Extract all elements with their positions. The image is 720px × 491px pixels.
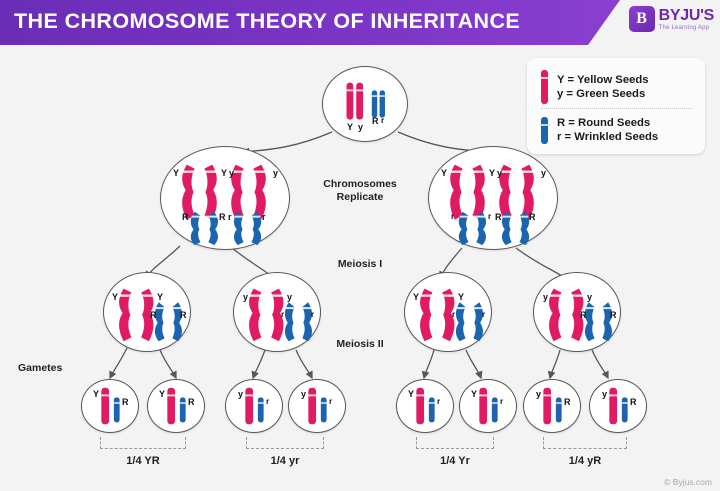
- repl-left-blue-1a: R: [182, 213, 189, 222]
- gamete-8-blue-label: R: [630, 398, 637, 407]
- m1c3-blue-b: r: [482, 311, 485, 319]
- meiosis1-cell-4: y y R R: [533, 272, 621, 352]
- parent-label-Y: Y: [347, 123, 353, 132]
- repl-right-blue-1a: r: [451, 213, 454, 221]
- m1c1-pink-b: Y: [157, 293, 163, 302]
- gamete-7: y R: [523, 379, 581, 433]
- meiosis1-cell-3: Y Y r r: [404, 272, 492, 352]
- repl-right-pink-1b: Y: [489, 169, 495, 178]
- legend-row-seed-color: Y = Yellow Seeds y = Green Seeds: [541, 68, 695, 106]
- gamete-4-pink-label: y: [301, 390, 306, 399]
- gamete-4-blue-label: r: [329, 398, 332, 406]
- m1c3-blue-a: r: [452, 311, 455, 319]
- gamete-3-pink-label: y: [238, 390, 243, 399]
- repl-right-pink-2a: y: [497, 169, 502, 178]
- gamete-6-blue-label: r: [500, 398, 503, 406]
- repl-left-pink-2a: y: [229, 169, 234, 178]
- repl-right-blue-1b: r: [488, 213, 491, 221]
- repl-right-pink-2b: y: [541, 169, 546, 178]
- replicate-line-1: Chromosomes: [300, 178, 420, 191]
- legend-entry-R: R = Round Seeds: [557, 117, 658, 129]
- m1c4-pink-b: y: [587, 293, 592, 302]
- m1c2-blue-b: r: [311, 311, 314, 319]
- page-header: THE CHROMOSOME THEORY OF INHERITANCE B B…: [0, 0, 720, 45]
- repl-right-pink-1a: Y: [441, 169, 447, 178]
- gamete-7-blue-label: R: [564, 398, 571, 407]
- gamete-1-blue-label: R: [122, 398, 129, 407]
- bracket-2: [246, 437, 324, 449]
- replicate-line-2: Replicate: [300, 191, 420, 204]
- bracket-1: [100, 437, 186, 449]
- m1c2-blue-a: r: [281, 311, 284, 319]
- repl-left-pink-1b: Y: [221, 169, 227, 178]
- gamete-1-pink-label: Y: [93, 390, 99, 399]
- parent-label-r: r: [381, 117, 384, 125]
- gamete-8: y R: [589, 379, 647, 433]
- bracket-4: [543, 437, 627, 449]
- diagram-canvas: THE CHROMOSOME THEORY OF INHERITANCE B B…: [0, 0, 720, 491]
- logo-badge-icon: B: [629, 6, 655, 32]
- parent-label-R: R: [372, 117, 379, 126]
- meiosis1-cell-1: Y Y R R: [103, 272, 191, 352]
- legend-entry-y: y = Green Seeds: [557, 88, 649, 100]
- m1c2-pink-b: y: [287, 293, 292, 302]
- bracket-3: [416, 437, 494, 449]
- repl-left-pink-2b: y: [273, 169, 278, 178]
- legend-row-seed-shape: R = Round Seeds r = Wrinkled Seeds: [541, 111, 695, 149]
- m1c4-blue-b: R: [610, 311, 617, 320]
- legend-box: Y = Yellow Seeds y = Green Seeds R = Rou…: [527, 58, 705, 154]
- gamete-6-pink-label: Y: [471, 390, 477, 399]
- gamete-7-pink-label: y: [536, 390, 541, 399]
- m1c3-pink-b: Y: [458, 293, 464, 302]
- repl-right-blue-2a: R: [495, 213, 502, 222]
- gamete-8-pink-label: y: [602, 390, 607, 399]
- repl-left-blue-1b: R: [219, 213, 226, 222]
- stage-label-replicate: Chromosomes Replicate: [300, 178, 420, 204]
- gamete-1: Y R: [81, 379, 139, 433]
- repl-left-blue-2a: r: [228, 213, 232, 222]
- logo-tagline: The Learning App: [659, 25, 714, 31]
- repl-left-blue-2b: r: [262, 213, 266, 222]
- repl-left-pink-1a: Y: [173, 169, 179, 178]
- gamete-4: y r: [288, 379, 346, 433]
- replicated-cell-right: Y Y y y r r R R: [428, 146, 558, 250]
- legend-divider: [541, 108, 693, 109]
- parent-label-y: y: [358, 123, 363, 132]
- meiosis1-cell-2: y y r r: [233, 272, 321, 352]
- gamete-2: Y R: [147, 379, 205, 433]
- stage-label-gametes: Gametes: [18, 362, 90, 375]
- ratio-label-1: 1/4 YR: [103, 455, 183, 467]
- m1c4-pink-a: y: [543, 293, 548, 302]
- gamete-3: y r: [225, 379, 283, 433]
- m1c3-pink-a: Y: [413, 293, 419, 302]
- gamete-3-blue-label: r: [266, 398, 269, 406]
- gamete-5-pink-label: Y: [408, 390, 414, 399]
- gamete-2-pink-label: Y: [159, 390, 165, 399]
- logo-letter: B: [636, 11, 647, 27]
- ratio-label-2: 1/4 yr: [245, 455, 325, 467]
- pink-chromosome-icon: [541, 70, 548, 104]
- legend-entry-Y: Y = Yellow Seeds: [557, 74, 649, 86]
- page-title: THE CHROMOSOME THEORY OF INHERITANCE: [14, 9, 520, 34]
- gamete-5: Y r: [396, 379, 454, 433]
- ratio-label-4: 1/4 yR: [545, 455, 625, 467]
- m1c1-pink-a: Y: [112, 293, 118, 302]
- copyright-text: © Byjus.com: [664, 477, 712, 487]
- repl-right-blue-2b: R: [529, 213, 536, 222]
- replicated-cell-left: Y Y y y R R r r: [160, 146, 290, 250]
- m1c2-pink-a: y: [243, 293, 248, 302]
- m1c1-blue-a: R: [150, 311, 157, 320]
- stage-label-meiosis-1: Meiosis I: [300, 258, 420, 271]
- gamete-5-blue-label: r: [437, 398, 440, 406]
- logo-name: BYJU'S: [659, 8, 714, 24]
- ratio-label-3: 1/4 Yr: [415, 455, 495, 467]
- gamete-2-blue-label: R: [188, 398, 195, 407]
- logo-wordmark: BYJU'S The Learning App: [659, 8, 714, 31]
- gamete-6: Y r: [459, 379, 517, 433]
- legend-entry-r: r = Wrinkled Seeds: [557, 131, 658, 143]
- legend-shape-texts: R = Round Seeds r = Wrinkled Seeds: [557, 117, 658, 143]
- byjus-logo: B BYJU'S The Learning App: [629, 6, 714, 32]
- parent-cell: Y y R r: [322, 66, 408, 142]
- m1c4-blue-a: R: [580, 311, 587, 320]
- blue-chromosome-icon: [541, 117, 548, 144]
- legend-color-texts: Y = Yellow Seeds y = Green Seeds: [557, 74, 649, 100]
- m1c1-blue-b: R: [180, 311, 187, 320]
